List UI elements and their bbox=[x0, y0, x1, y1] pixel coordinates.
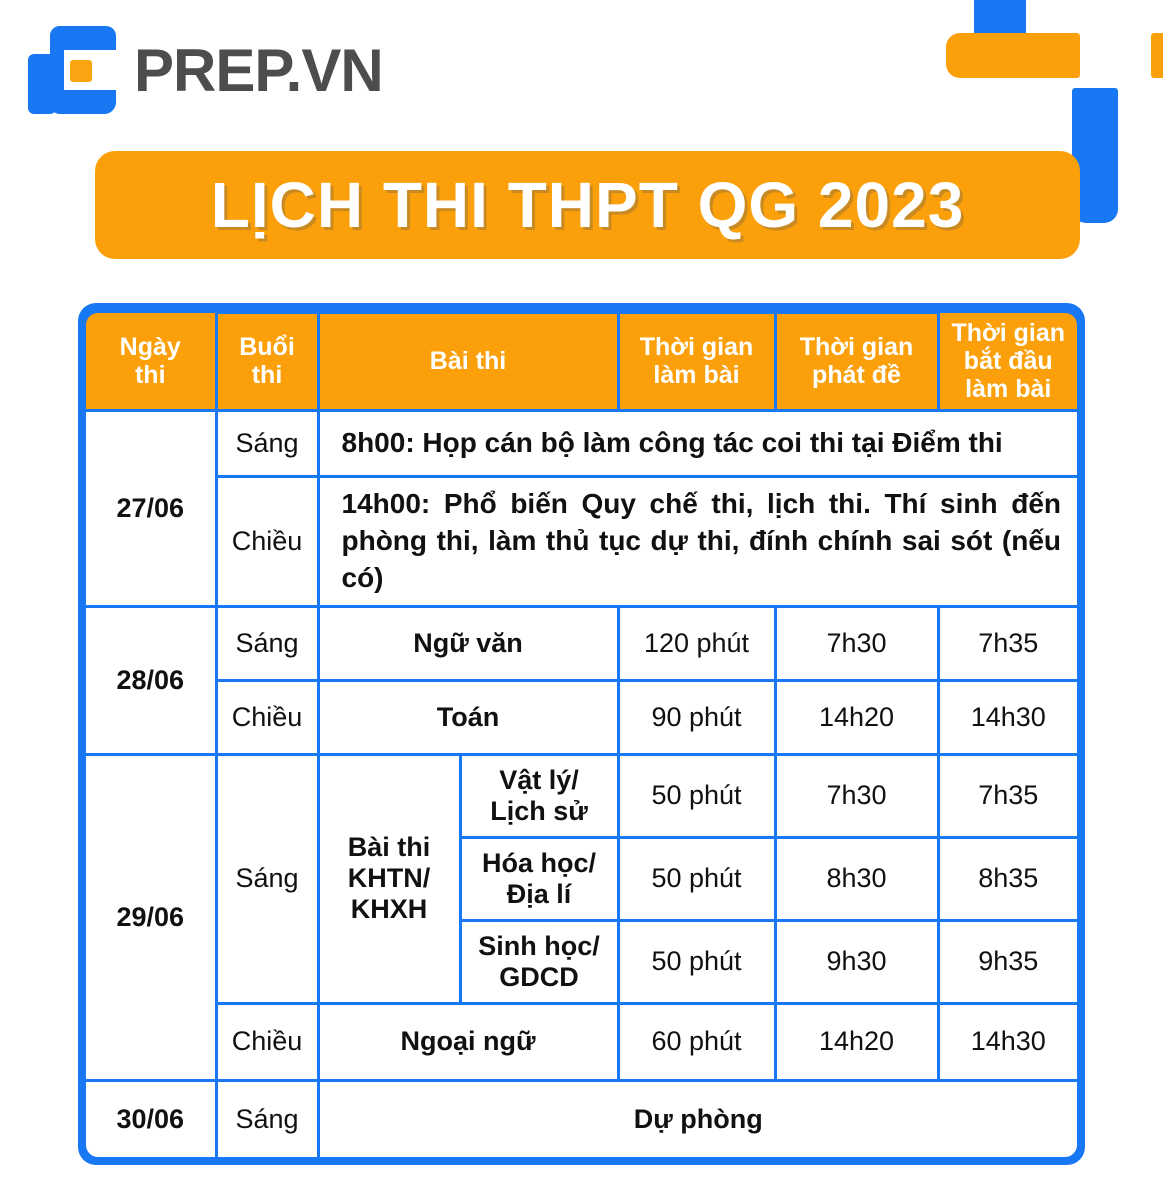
table-row: 27/06 Sáng 8h00: Họp cán bộ làm công tác… bbox=[86, 410, 1077, 477]
cell-duration: 120 phút bbox=[618, 606, 775, 680]
table-row: Chiều Toán 90 phút 14h20 14h30 bbox=[86, 680, 1077, 754]
poster-page: PREP.VN LỊCH THI THPT QG 2023 PREP.VN bbox=[0, 0, 1163, 1200]
group-line-3: KHXH bbox=[351, 894, 428, 924]
header-line-1: Thời gian bbox=[800, 333, 914, 361]
header-line-2: thi bbox=[135, 361, 166, 389]
cell-paper-time: 8h30 bbox=[775, 837, 938, 920]
header-line-1: Ngày bbox=[120, 333, 181, 361]
cell-start-time: 14h30 bbox=[938, 1003, 1077, 1080]
page-title: LỊCH THI THPT QG 2023 bbox=[211, 168, 965, 242]
subject-line-1: Hóa học/ bbox=[482, 848, 596, 878]
cell-session-sang: Sáng bbox=[216, 410, 318, 477]
cell-session-chieu: Chiều bbox=[216, 680, 318, 754]
cell-note-du-phong: Dự phòng bbox=[318, 1080, 1077, 1157]
decor-orange-bar bbox=[946, 33, 1080, 78]
exam-schedule-table-container: Ngày thi Buổi thi Bài thi Thời gian làm … bbox=[78, 303, 1085, 1165]
table-head: Ngày thi Buổi thi Bài thi Thời gian làm … bbox=[86, 313, 1077, 411]
cell-session-sang: Sáng bbox=[216, 1080, 318, 1157]
cell-subject-vatly-lichsu: Vật lý/ Lịch sử bbox=[460, 754, 618, 837]
cell-duration: 60 phút bbox=[618, 1003, 775, 1080]
table-row: 29/06 Sáng Bài thi KHTN/ KHXH Vật lý/ Lị… bbox=[86, 754, 1077, 837]
column-header-thoi-gian-phat-de: Thời gian phát đề bbox=[775, 313, 938, 411]
brand-logo[interactable]: PREP.VN bbox=[28, 26, 383, 114]
cell-date-3006: 30/06 bbox=[86, 1080, 216, 1157]
cell-subject-toan: Toán bbox=[318, 680, 618, 754]
cell-paper-time: 7h30 bbox=[775, 754, 938, 837]
cell-subject-ngu-van: Ngữ văn bbox=[318, 606, 618, 680]
subject-line-2: Địa lí bbox=[507, 879, 572, 909]
table-row: Chiều Ngoại ngữ 60 phút 14h20 14h30 bbox=[86, 1003, 1077, 1080]
cell-start-time: 7h35 bbox=[938, 754, 1077, 837]
subject-line-1: Vật lý/ bbox=[499, 765, 579, 795]
cell-start-time: 14h30 bbox=[938, 680, 1077, 754]
brand-name: PREP.VN bbox=[134, 36, 383, 105]
cell-session-sang: Sáng bbox=[216, 754, 318, 1003]
header-line-1: Thời gian bbox=[951, 319, 1065, 347]
title-banner: LỊCH THI THPT QG 2023 bbox=[95, 151, 1080, 259]
group-line-1: Bài thi bbox=[348, 832, 431, 862]
cell-session-sang: Sáng bbox=[216, 606, 318, 680]
cell-session-chieu: Chiều bbox=[216, 1003, 318, 1080]
header-line-1: Thời gian bbox=[640, 333, 754, 361]
table-row: Chiều 14h00: Phổ biến Quy chế thi, lịch … bbox=[86, 477, 1077, 607]
header-line-2: làm bài bbox=[653, 361, 739, 389]
cell-note-morning-2706: 8h00: Họp cán bộ làm công tác coi thi tạ… bbox=[318, 410, 1077, 477]
header-line-1: Bài thi bbox=[430, 347, 506, 375]
cell-subject-sinhhoc-gdcd: Sinh học/ GDCD bbox=[460, 920, 618, 1003]
column-header-thoi-gian-bat-dau-lam-bai: Thời gian bắt đầu làm bài bbox=[938, 313, 1077, 411]
header-line-2: bắt đầu bbox=[964, 347, 1053, 375]
cell-group-khtn-khxh: Bài thi KHTN/ KHXH bbox=[318, 754, 460, 1003]
column-header-buoi-thi: Buổi thi bbox=[216, 313, 318, 411]
cell-duration: 50 phút bbox=[618, 754, 775, 837]
cell-date-2906: 29/06 bbox=[86, 754, 216, 1080]
subject-line-1: Sinh học/ bbox=[478, 931, 600, 961]
cell-paper-time: 7h30 bbox=[775, 606, 938, 680]
cell-date-2806: 28/06 bbox=[86, 606, 216, 754]
column-header-ngay-thi: Ngày thi bbox=[86, 313, 216, 411]
column-header-thoi-gian-lam-bai: Thời gian làm bài bbox=[618, 313, 775, 411]
cell-paper-time: 14h20 bbox=[775, 680, 938, 754]
table-row: 30/06 Sáng Dự phòng bbox=[86, 1080, 1077, 1157]
cell-note-afternoon-2706: 14h00: Phổ biến Quy chế thi, lịch thi. T… bbox=[318, 477, 1077, 607]
decor-orange-right-bar bbox=[1151, 33, 1163, 78]
subject-line-2: GDCD bbox=[499, 962, 579, 992]
cell-date-2706: 27/06 bbox=[86, 410, 216, 606]
table-header-row: Ngày thi Buổi thi Bài thi Thời gian làm … bbox=[86, 313, 1077, 411]
cell-start-time: 9h35 bbox=[938, 920, 1077, 1003]
header-line-2: phát đề bbox=[812, 361, 901, 389]
cell-paper-time: 9h30 bbox=[775, 920, 938, 1003]
table-row: 28/06 Sáng Ngữ văn 120 phút 7h30 7h35 bbox=[86, 606, 1077, 680]
cell-start-time: 7h35 bbox=[938, 606, 1077, 680]
cell-duration: 50 phút bbox=[618, 920, 775, 1003]
cell-duration: 90 phút bbox=[618, 680, 775, 754]
cell-subject-ngoai-ngu: Ngoại ngữ bbox=[318, 1003, 618, 1080]
header-line-1: Buổi bbox=[239, 333, 295, 361]
subject-line-2: Lịch sử bbox=[490, 796, 588, 826]
column-header-bai-thi: Bài thi bbox=[318, 313, 618, 411]
exam-schedule-table: Ngày thi Buổi thi Bài thi Thời gian làm … bbox=[86, 311, 1077, 1157]
cell-duration: 50 phút bbox=[618, 837, 775, 920]
cell-paper-time: 14h20 bbox=[775, 1003, 938, 1080]
cell-subject-hoahoc-diali: Hóa học/ Địa lí bbox=[460, 837, 618, 920]
cell-start-time: 8h35 bbox=[938, 837, 1077, 920]
header-line-3: làm bài bbox=[965, 375, 1051, 403]
group-line-2: KHTN/ bbox=[348, 863, 431, 893]
header-line-2: thi bbox=[252, 361, 283, 389]
cell-session-chieu: Chiều bbox=[216, 477, 318, 607]
prep-logo-icon bbox=[28, 26, 116, 114]
table-body: 27/06 Sáng 8h00: Họp cán bộ làm công tác… bbox=[86, 410, 1077, 1157]
